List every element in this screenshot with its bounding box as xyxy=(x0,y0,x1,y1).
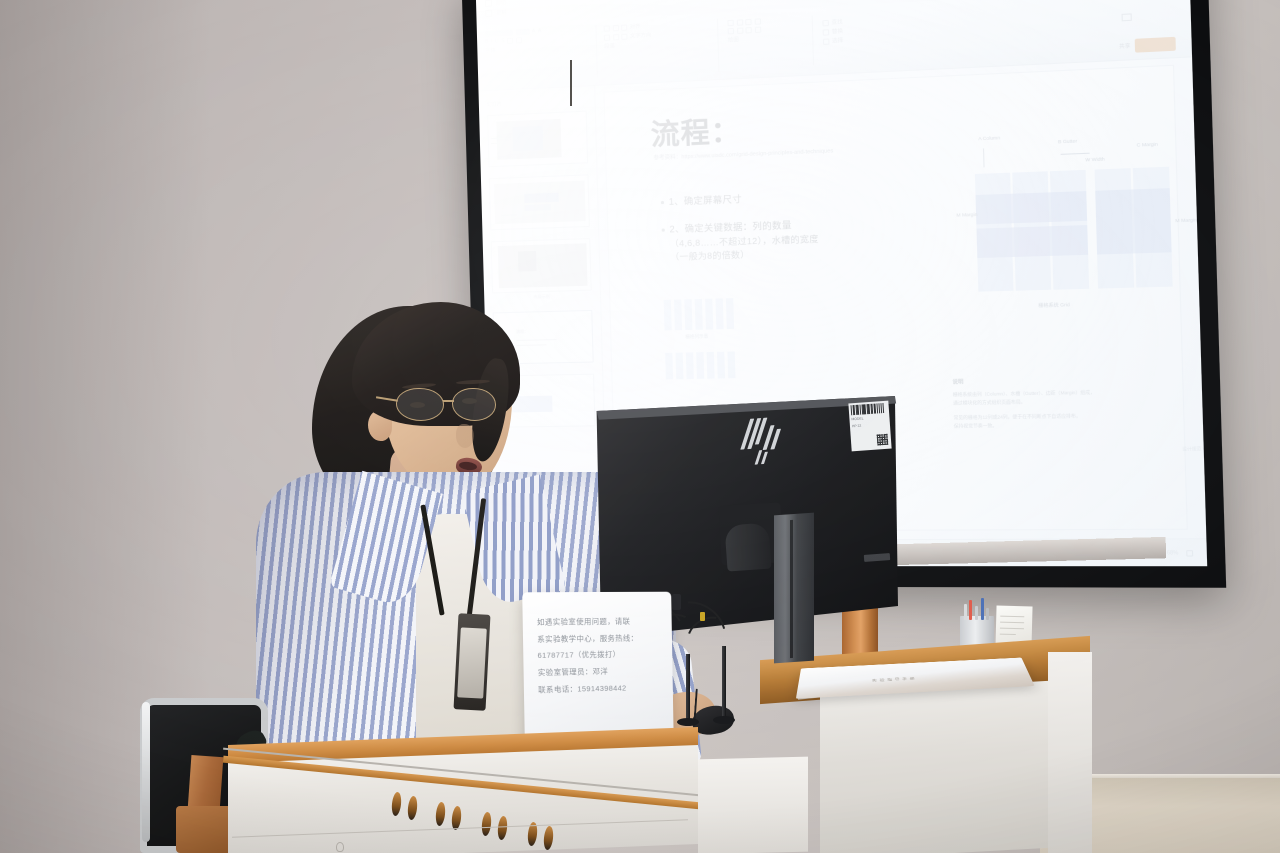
classroom-scene: 剪切 复制 🔍 搜索 xyxy=(0,0,1280,853)
scene-vignette xyxy=(0,0,1280,853)
